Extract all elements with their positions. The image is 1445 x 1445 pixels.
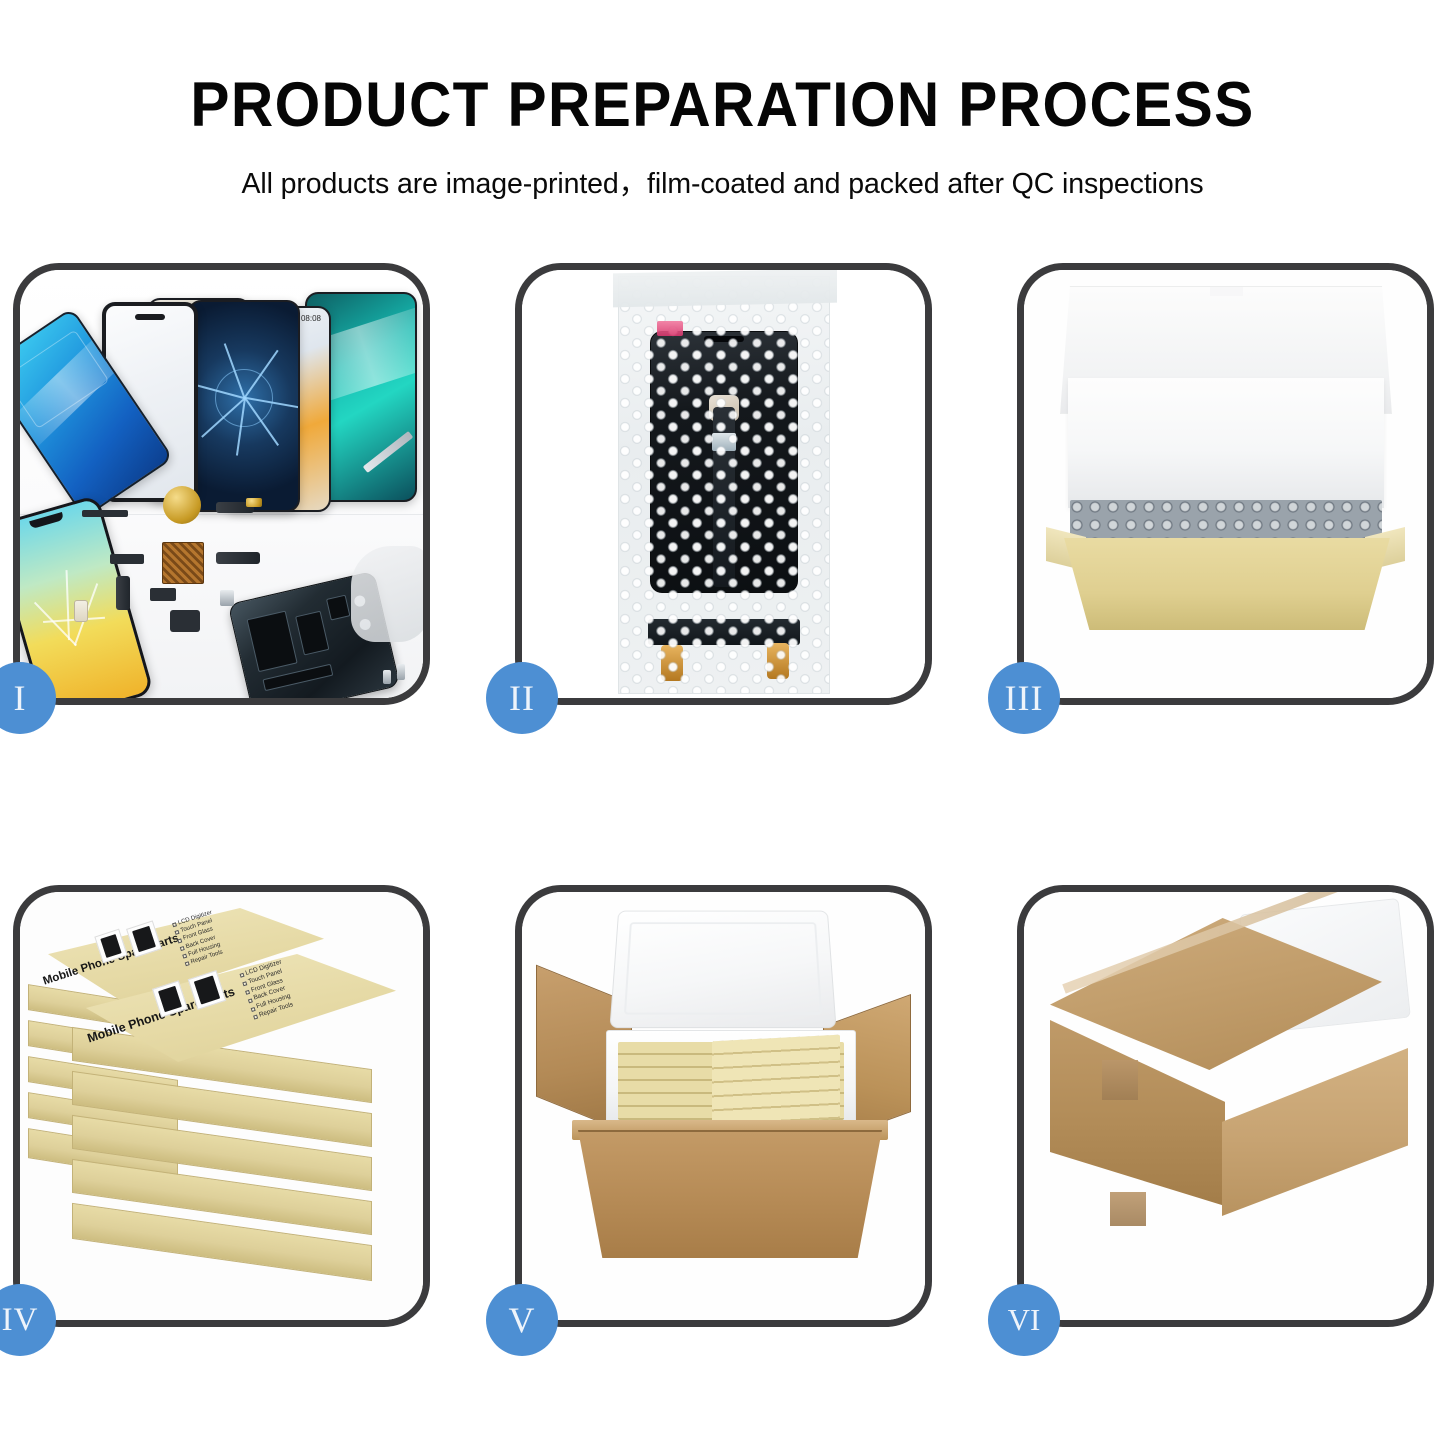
component-speaker-icon bbox=[163, 486, 201, 524]
stacked-gold-boxes-scene: Mobile Phone Spare Parts LCD Digitizer T… bbox=[20, 892, 423, 1320]
component-screw-a-icon bbox=[397, 664, 405, 680]
component-screw-b-icon bbox=[383, 670, 391, 684]
pink-label-icon bbox=[657, 321, 683, 336]
process-step-card-6: VI bbox=[1017, 885, 1434, 1327]
process-step-card-2: II bbox=[515, 263, 932, 705]
foam-sheet-icon bbox=[1068, 378, 1384, 508]
component-small-a-icon bbox=[110, 554, 144, 564]
page-subtitle: All products are image-printed，film-coat… bbox=[0, 161, 1445, 202]
step-6-image bbox=[1024, 892, 1427, 1320]
component-shield-grid-icon bbox=[162, 542, 204, 584]
component-small-b-icon bbox=[150, 588, 176, 601]
bubble-wrap-bag-scene bbox=[522, 270, 925, 698]
step-badge-2: II bbox=[486, 662, 558, 734]
component-bar-icon bbox=[82, 510, 128, 517]
process-step-card-1: 08:08 bbox=[13, 263, 430, 705]
packing-tape-lower-icon bbox=[1110, 1192, 1146, 1226]
header: PRODUCT PREPARATION PROCESS All products… bbox=[0, 0, 1445, 202]
step-3-image bbox=[1024, 270, 1427, 698]
sealed-carton-scene bbox=[1024, 892, 1427, 1320]
gold-boxes-inside-icon bbox=[712, 1035, 840, 1126]
step-badge-5: V bbox=[486, 1284, 558, 1356]
phone-cracked-blue-icon bbox=[188, 300, 300, 512]
step-badge-6: VI bbox=[988, 1284, 1060, 1356]
carton-with-foam-cooler-scene bbox=[522, 892, 925, 1320]
gold-box-front-icon bbox=[1046, 538, 1408, 630]
component-camera-icon bbox=[170, 610, 200, 632]
component-flex-b-icon bbox=[216, 552, 260, 564]
bubble-wrap-bag-icon bbox=[618, 276, 830, 694]
bag-seal-icon bbox=[613, 270, 837, 307]
step-1-image: 08:08 bbox=[20, 270, 423, 698]
process-step-card-5: V bbox=[515, 885, 932, 1327]
open-gold-box-scene bbox=[1024, 270, 1427, 698]
carton-right-face-icon bbox=[1222, 1048, 1408, 1216]
carton-body-icon bbox=[578, 1130, 882, 1258]
component-metal-icon bbox=[220, 590, 234, 606]
process-step-card-3: III bbox=[1017, 263, 1434, 705]
step-4-image: Mobile Phone Spare Parts LCD Digitizer T… bbox=[20, 892, 423, 1320]
process-step-card-4: Mobile Phone Spare Parts LCD Digitizer T… bbox=[13, 885, 430, 1327]
component-connector-icon bbox=[246, 498, 262, 507]
component-flex-c-icon bbox=[116, 576, 130, 610]
step-badge-3: III bbox=[988, 662, 1060, 734]
packing-tape-upper-icon bbox=[1102, 1060, 1138, 1100]
component-sim-tray-icon bbox=[74, 600, 88, 622]
product-preparation-infographic: PRODUCT PREPARATION PROCESS All products… bbox=[0, 0, 1445, 1445]
process-step-grid: 08:08 bbox=[13, 263, 1432, 1327]
hand-icon bbox=[351, 546, 423, 642]
bubble-texture bbox=[619, 277, 829, 693]
step-5-image bbox=[522, 892, 925, 1320]
foam-cooler-lid-icon bbox=[609, 911, 836, 1028]
page-title: PRODUCT PREPARATION PROCESS bbox=[51, 74, 1395, 137]
phone-parts-collage-scene: 08:08 bbox=[20, 270, 423, 698]
step-2-image bbox=[522, 270, 925, 698]
